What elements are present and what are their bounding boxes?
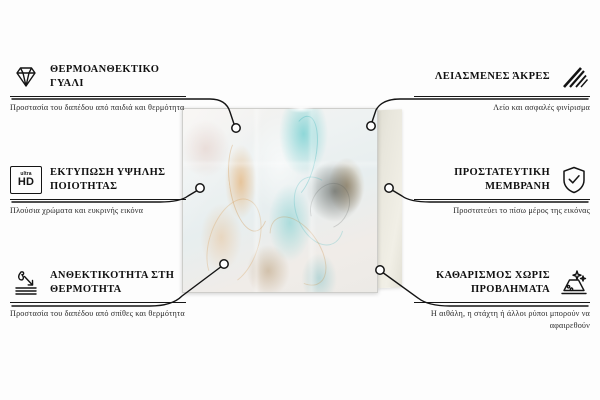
product-glass-panel: [182, 108, 378, 293]
abstract-marble-artwork: [182, 108, 378, 293]
feature-divider: [414, 302, 590, 303]
feature-divider: [10, 199, 186, 200]
diamond-icon: [10, 61, 42, 93]
feature-protective-film: ΠΡΟΣΤΑΤΕΥΤΙΚΗ ΜΕΜΒΡΑΝΗ Προστατεύει το πί…: [414, 163, 590, 217]
product-feature-infographic: ΘΕΡΜΟΑΝΘΕΚΤΙΚΟ ΓΥΑΛΙ Προστασία του δαπέδ…: [0, 0, 600, 400]
sponge-sparkle-icon: [558, 267, 590, 299]
diagonal-stripes-icon: [558, 61, 590, 93]
ultra-hd-icon: ultra HD: [10, 164, 42, 196]
feature-description: Η αιθάλη, η στάχτη ή άλλοι ρύποι μπορούν…: [414, 308, 590, 333]
feature-heat-resistant-glass: ΘΕΡΜΟΑΝΘΕΚΤΙΚΟ ΓΥΑΛΙ Προστασία του δαπέδ…: [10, 60, 186, 114]
feature-smooth-edges: ΛΕΙΑΣΜΕΝΕΣ ΆΚΡΕΣ Λείο και ασφαλές φινίρι…: [414, 60, 590, 114]
feature-header: ΘΕΡΜΟΑΝΘΕΚΤΙΚΟ ΓΥΑΛΙ: [10, 60, 186, 94]
feature-title: ΚΑΘΑΡΙΣΜΟΣ ΧΩΡΙΣ ΠΡΟΒΛΗΜΑΤΑ: [414, 269, 550, 297]
product-image: [182, 108, 402, 293]
feature-high-quality-print: ultra HD ΕΚΤΥΠΩΣΗ ΥΨΗΛΗΣ ΠΟΙΟΤΗΤΑΣ Πλούσ…: [10, 163, 186, 217]
feature-divider: [414, 96, 590, 97]
feature-heat-resistance: ΑΝΘΕΚΤΙΚΟΤΗΤΑ ΣΤΗ ΘΕΡΜΟΤΗΤΑ Προστασία το…: [10, 266, 186, 320]
feature-divider: [10, 96, 186, 97]
feature-divider: [414, 199, 590, 200]
feature-header: ΚΑΘΑΡΙΣΜΟΣ ΧΩΡΙΣ ΠΡΟΒΛΗΜΑΤΑ: [414, 266, 590, 300]
feature-title: ΑΝΘΕΚΤΙΚΟΤΗΤΑ ΣΤΗ ΘΕΡΜΟΤΗΤΑ: [50, 269, 186, 297]
feature-easy-cleaning: ΚΑΘΑΡΙΣΜΟΣ ΧΩΡΙΣ ΠΡΟΒΛΗΜΑΤΑ Η αιθάλη, η …: [414, 266, 590, 333]
feature-header: ΛΕΙΑΣΜΕΝΕΣ ΆΚΡΕΣ: [414, 60, 590, 94]
feature-description: Πλούσια χρώματα και ευκρινής εικόνα: [10, 205, 186, 217]
flame-deflect-icon: [10, 267, 42, 299]
feature-title: ΘΕΡΜΟΑΝΘΕΚΤΙΚΟ ΓΥΑΛΙ: [50, 63, 186, 91]
feature-header: ΑΝΘΕΚΤΙΚΟΤΗΤΑ ΣΤΗ ΘΕΡΜΟΤΗΤΑ: [10, 266, 186, 300]
feature-title: ΕΚΤΥΠΩΣΗ ΥΨΗΛΗΣ ΠΟΙΟΤΗΤΑΣ: [50, 166, 186, 194]
feature-divider: [10, 302, 186, 303]
feature-header: ultra HD ΕΚΤΥΠΩΣΗ ΥΨΗΛΗΣ ΠΟΙΟΤΗΤΑΣ: [10, 163, 186, 197]
feature-title: ΛΕΙΑΣΜΕΝΕΣ ΆΚΡΕΣ: [414, 70, 550, 84]
shield-check-icon: [558, 164, 590, 196]
feature-description: Προστατεύει το πίσω μέρος της εικόνας: [414, 205, 590, 217]
feature-description: Προστασία του δαπέδου από παιδιά και θερ…: [10, 102, 186, 114]
feature-description: Προστασία του δαπέδου από σπίθες και θερ…: [10, 308, 186, 320]
feature-description: Λείο και ασφαλές φινίρισμα: [414, 102, 590, 114]
feature-header: ΠΡΟΣΤΑΤΕΥΤΙΚΗ ΜΕΜΒΡΑΝΗ: [414, 163, 590, 197]
feature-title: ΠΡΟΣΤΑΤΕΥΤΙΚΗ ΜΕΜΒΡΑΝΗ: [414, 166, 550, 194]
